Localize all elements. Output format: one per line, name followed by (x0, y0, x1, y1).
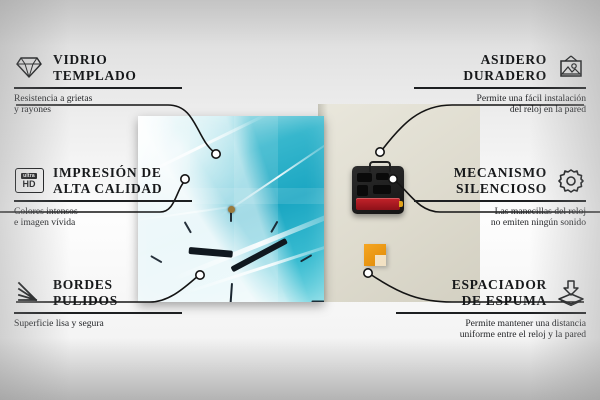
divider (14, 200, 192, 202)
gear-icon (556, 168, 586, 194)
feature-desc: Superficie lisa y segura (14, 318, 182, 330)
feature-title: ASIDERO DURADERO (463, 52, 547, 83)
diamond-icon (14, 55, 44, 81)
feature-espaciador-de-espuma: ESPACIADOR DE ESPUMA Permite mantener un… (396, 277, 586, 341)
polished-edges-icon (14, 280, 44, 306)
feature-vidrio-templado: VIDRIO TEMPLADO Resistencia a grietas y … (14, 52, 182, 116)
clock-center-pin (228, 206, 235, 213)
feature-title: IMPRESIÓN DE ALTA CALIDAD (53, 165, 162, 196)
divider (14, 87, 182, 89)
mechanism-hook (369, 161, 391, 172)
feature-desc: Permite mantener una distancia uniforme … (396, 318, 586, 341)
feature-desc: Colores intensos e imagen vívida (14, 206, 192, 229)
divider (396, 312, 586, 314)
picture-frame-hanging-icon (556, 55, 586, 81)
clock-mechanism (352, 166, 404, 214)
clock-hour-hand (189, 247, 233, 254)
mechanism-battery (356, 198, 400, 210)
ultra-hd-icon: ultra HD (14, 168, 44, 194)
feature-title: BORDES PULIDOS (53, 277, 118, 308)
feature-desc: Permite una fácil instalación del reloj … (414, 93, 586, 116)
feature-asidero-duradero: ASIDERO DURADERO Permite una fácil insta… (414, 52, 586, 116)
feature-title: MECANISMO SILENCIOSO (454, 165, 547, 196)
feature-mecanismo-silencioso: MECANISMO SILENCIOSO Las manecillas del … (414, 165, 586, 229)
feature-bordes-pulidos: BORDES PULIDOS Superficie lisa y segura (14, 277, 182, 329)
divider (414, 87, 586, 89)
feature-desc: Las manecillas del reloj no emiten ningú… (414, 206, 586, 229)
divider (14, 312, 182, 314)
divider (414, 200, 586, 202)
feature-title: ESPACIADOR DE ESPUMA (452, 277, 547, 308)
ultra-hd-icon-top: ultra (21, 173, 37, 179)
infographic-canvas: VIDRIO TEMPLADO Resistencia a grietas y … (0, 0, 600, 400)
feature-desc: Resistencia a grietas y rayones (14, 93, 182, 116)
foam-spacer-icon (556, 280, 586, 306)
foam-spacer-piece (364, 244, 386, 266)
ultra-hd-icon-bottom: HD (23, 180, 36, 189)
feature-impresion-alta-calidad: ultra HD IMPRESIÓN DE ALTA CALIDAD Color… (14, 165, 192, 229)
feature-title: VIDRIO TEMPLADO (53, 52, 137, 83)
